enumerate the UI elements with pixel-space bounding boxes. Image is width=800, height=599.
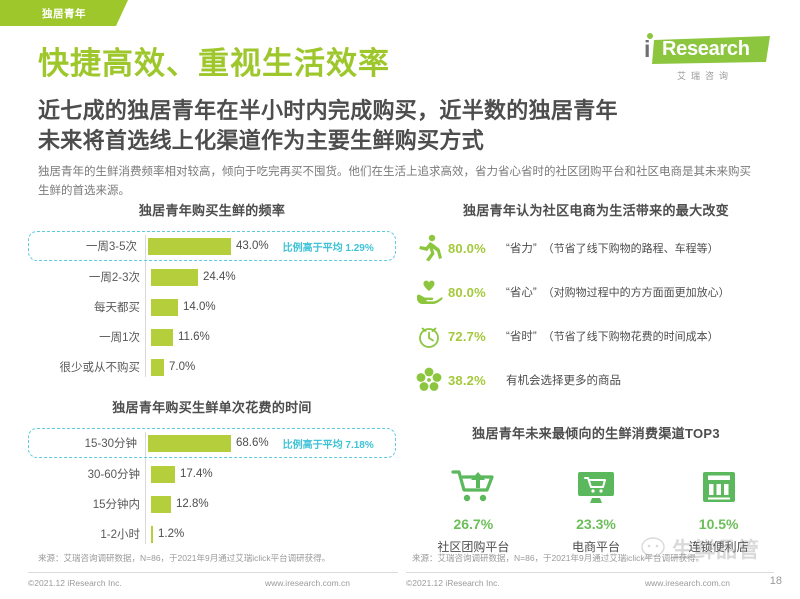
section-tab-badge: 独居青年 (0, 0, 128, 26)
bar-value: 17.4% (180, 468, 213, 480)
change-key: “省心” (506, 284, 537, 300)
source-note-left: 来源：艾瑞咨询调研数据，N=86，于2021年9月通过艾瑞iclick平台调研获… (38, 552, 330, 564)
list-item: 72.7% “省时” （节省了线下购物花费的时间成本） (412, 319, 780, 353)
bar-wrap: 14.0% (146, 299, 396, 316)
bar-fill (151, 269, 198, 286)
source-note-right: 来源：艾瑞咨询调研数据，N=86，于2021年9月通过艾瑞iclick平台调研获… (412, 552, 704, 564)
table-row: 1-2小时 1.2% (28, 522, 396, 546)
website-url-left: www.iresearch.com.cn (265, 578, 350, 588)
bar-label: 15分钟内 (28, 496, 146, 512)
bar-value: 43.0% (236, 240, 269, 252)
logo-wordmark: Research (662, 37, 750, 62)
bar-fill (151, 359, 164, 376)
page-title: 快捷高效、重视生活效率 (38, 38, 390, 83)
shopping-cart-up-icon (418, 460, 528, 506)
copyright-left: ©2021.12 iResearch Inc. (28, 578, 122, 588)
website-url-right: www.iresearch.com.cn (645, 578, 730, 588)
bar-value: 1.2% (158, 528, 184, 540)
bar-fill (151, 526, 153, 543)
bar-fill (151, 299, 178, 316)
list-item: 10.5% 连锁便利店 (664, 460, 774, 555)
chart-title-changes: 独居青年认为社区电商为生活带来的最大改变 (412, 200, 780, 219)
logo-dot-icon (647, 33, 653, 39)
bar-wrap: 24.4% (146, 269, 396, 286)
clock-icon (412, 321, 446, 351)
monitor-cart-icon (541, 460, 651, 506)
table-row: 很少或从不购买 7.0% (28, 355, 396, 379)
change-percent: 80.0% (448, 285, 506, 300)
list-item: 80.0% “省力” （节省了线下购物的路程、车程等） (412, 231, 780, 265)
bar-value: 12.8% (176, 498, 209, 510)
chart-title-frequency: 独居青年购买生鲜的频率 (28, 200, 396, 219)
subtitle-line-2: 未来将首选线上化渠道作为主要生鲜购买方式 (38, 126, 738, 156)
footer-divider-right (406, 572, 774, 573)
change-description: （对购物过程中的方方面面更加放心） (543, 284, 730, 300)
bar-wrap: 17.4% (146, 466, 396, 483)
table-row: 30-60分钟 17.4% (28, 462, 396, 486)
bar-label: 一周1次 (28, 329, 146, 345)
bar-wrap: 43.0% 比例高于平均 1.29% (143, 238, 391, 255)
iresearch-logo: i Research 艾瑞咨询 (632, 34, 778, 82)
page-subtitle: 近七成的独居青年在半小时内完成购买，近半数的独居青年 未来将首选线上化渠道作为主… (38, 96, 738, 155)
subtitle-line-1: 近七成的独居青年在半小时内完成购买，近半数的独居青年 (38, 96, 738, 126)
table-row: 一周2-3次 24.4% (28, 265, 396, 289)
right-column: 独居青年认为社区电商为生活带来的最大改变 80.0% “省力” （节省了线下购物… (412, 200, 780, 555)
bar-fill (151, 466, 175, 483)
bar-label: 一周2-3次 (28, 269, 146, 285)
bar-wrap: 68.6% 比例高于平均 7.18% (143, 435, 391, 452)
page-number: 18 (770, 575, 782, 587)
top3-percent: 26.7% (418, 516, 528, 532)
change-description: （节省了线下购物的路程、车程等） (543, 240, 719, 256)
top3-percent: 10.5% (664, 516, 774, 532)
page-body-text: 独居青年的生鲜消费频率相对较高，倾向于吃完再买不囤货。他们在生活上追求高效，省力… (38, 163, 760, 201)
change-key: “省力” (506, 240, 537, 256)
list-item: 23.3% 电商平台 (541, 460, 651, 555)
logo-subtitle: 艾瑞咨询 (632, 69, 778, 82)
chart-title-time: 独居青年购买生鲜单次花费的时间 (28, 397, 396, 416)
logo-letter-text: i (644, 36, 650, 62)
left-column: 独居青年购买生鲜的频率 一周3-5次 43.0% 比例高于平均 1.29% 一周… (28, 200, 396, 552)
logo-mark: i Research (632, 34, 778, 68)
change-key: “省时” (506, 328, 537, 344)
bar-value: 7.0% (169, 361, 195, 373)
bar-annotation: 比例高于平均 1.29% (283, 239, 374, 254)
bar-value: 68.6% (236, 437, 269, 449)
bar-wrap: 12.8% (146, 496, 396, 513)
bar-wrap: 1.2% (146, 526, 396, 543)
bar-fill (148, 238, 231, 255)
list-item: 26.7% 社区团购平台 (418, 460, 528, 555)
table-row: 15分钟内 12.8% (28, 492, 396, 516)
table-row: 15-30分钟 68.6% 比例高于平均 7.18% (28, 428, 396, 458)
bar-fill (151, 329, 173, 346)
chart-title-top3: 独居青年未来最倾向的生鲜消费渠道TOP3 (412, 423, 780, 442)
top3-list: 26.7% 社区团购平台 23.3% 电商平台 (412, 460, 780, 555)
running-person-icon (412, 233, 446, 263)
top3-percent: 23.3% (541, 516, 651, 532)
bar-label: 很少或从不购买 (28, 359, 146, 375)
chart-frequency: 一周3-5次 43.0% 比例高于平均 1.29% 一周2-3次 24.4% 每… (28, 231, 396, 379)
table-row: 每天都买 14.0% (28, 295, 396, 319)
bar-label: 每天都买 (28, 299, 146, 315)
bar-wrap: 7.0% (146, 359, 396, 376)
change-percent: 38.2% (448, 373, 506, 388)
flower-icon (412, 365, 446, 395)
bar-value: 11.6% (178, 331, 210, 343)
change-key: 有机会选择更多的商品 (506, 372, 621, 388)
bar-label: 15-30分钟 (29, 435, 143, 451)
bar-label: 一周3-5次 (29, 238, 143, 254)
hand-heart-icon (412, 277, 446, 307)
changes-list: 80.0% “省力” （节省了线下购物的路程、车程等） 80.0% “省心” （… (412, 231, 780, 397)
change-description: （节省了线下购物花费的时间成本） (543, 328, 719, 344)
tab-badge-label: 独居青年 (42, 6, 86, 21)
bar-fill (151, 496, 171, 513)
chart-time: 15-30分钟 68.6% 比例高于平均 7.18% 30-60分钟 17.4%… (28, 428, 396, 546)
logo-letter-i: i (644, 38, 650, 61)
store-icon (664, 460, 774, 506)
bar-annotation: 比例高于平均 7.18% (283, 436, 374, 451)
change-percent: 80.0% (448, 241, 506, 256)
copyright-right: ©2021.12 iResearch Inc. (406, 578, 500, 588)
table-row: 一周3-5次 43.0% 比例高于平均 1.29% (28, 231, 396, 261)
bar-value: 14.0% (183, 301, 216, 313)
bar-label: 1-2小时 (28, 526, 146, 542)
bar-label: 30-60分钟 (28, 466, 146, 482)
bar-fill (148, 435, 231, 452)
slide: 独居青年 i Research 艾瑞咨询 快捷高效、重视生活效率 近七成的独居青… (0, 0, 800, 599)
change-percent: 72.7% (448, 329, 506, 344)
bar-value: 24.4% (203, 271, 236, 283)
bar-wrap: 11.6% (146, 329, 396, 346)
table-row: 一周1次 11.6% (28, 325, 396, 349)
list-item: 38.2% 有机会选择更多的商品 (412, 363, 780, 397)
footer-divider-left (28, 572, 398, 573)
list-item: 80.0% “省心” （对购物过程中的方方面面更加放心） (412, 275, 780, 309)
